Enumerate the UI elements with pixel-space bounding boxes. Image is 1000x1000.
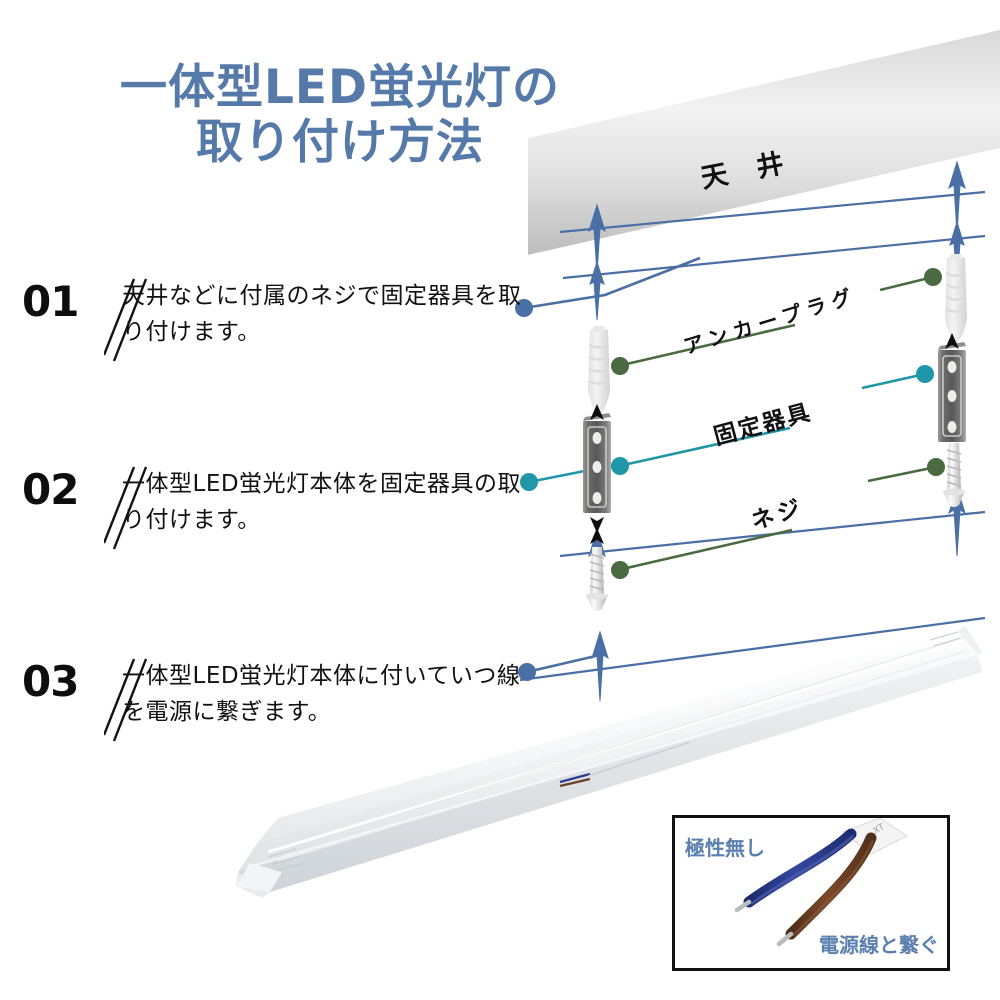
wire-connection-inset: XT 極性無し 電源線と繋ぐ <box>672 815 950 971</box>
step-number: 03 <box>22 657 78 706</box>
bracket-leader-right <box>862 365 934 388</box>
step-number: 02 <box>22 465 78 514</box>
step-text: 一体型LED蛍光灯本体を固定器具の取り付けます。 <box>122 467 522 538</box>
callout-step-03 <box>518 655 600 681</box>
step-text: 一体型LED蛍光灯本体に付いていつ線を電源に繋ぎます。 <box>122 659 522 730</box>
infographic-page: 一体型LED蛍光灯の 取り付け方法 01 天井などに付属のネジで固定器具を取り付… <box>0 0 1000 1000</box>
anchor-plug-right <box>945 254 967 344</box>
label-connect-power: 電源線と繋ぐ <box>819 929 939 958</box>
label-no-polarity: 極性無し <box>685 832 765 861</box>
step-number: 01 <box>22 277 78 326</box>
title-line-2: 取り付け方法 <box>40 115 640 170</box>
fixing-bracket-left <box>583 404 611 533</box>
anchor-leader-right <box>880 268 942 290</box>
step-text: 天井などに付属のネジで固定器具を取り付けます。 <box>122 279 522 350</box>
screw-leader-left <box>611 530 792 579</box>
screw-leader-right <box>868 458 945 481</box>
anchor-plug-left <box>588 326 610 416</box>
screw-right <box>943 443 965 507</box>
title-line-1: 一体型LED蛍光灯の <box>40 60 640 115</box>
fixing-bracket-right <box>938 333 966 442</box>
page-title: 一体型LED蛍光灯の 取り付け方法 <box>40 60 640 171</box>
